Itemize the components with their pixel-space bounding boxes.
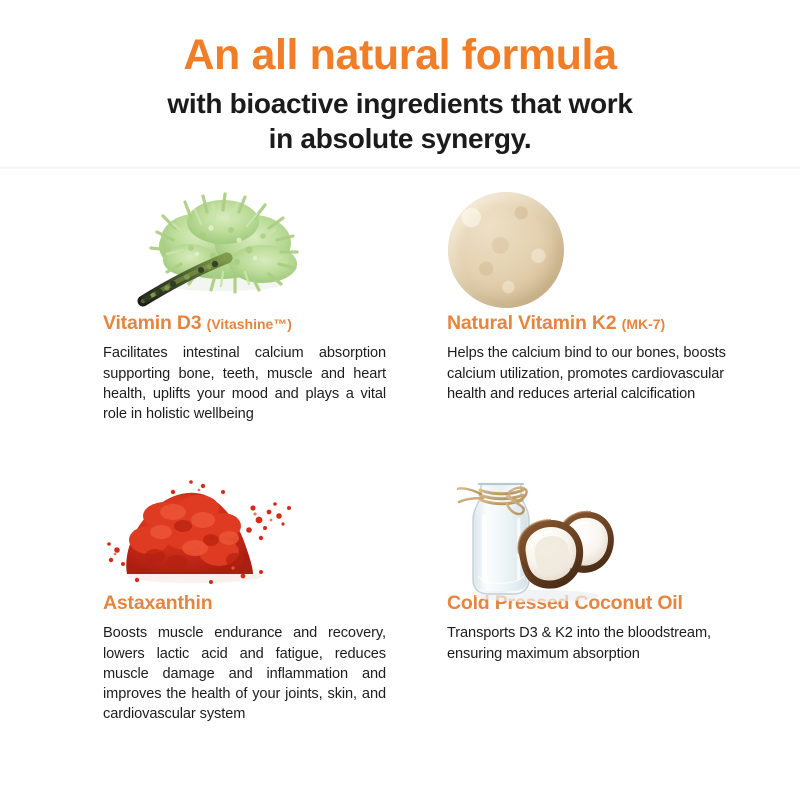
- ingredient-card-coconut-oil: Cold Pressed Coconut Oil Transports D3 &…: [447, 468, 747, 664]
- subtitle-line-2: in absolute synergy.: [167, 122, 632, 156]
- ingredient-image-wrapper: [103, 468, 403, 593]
- ingredient-name: Natural Vitamin K2: [447, 312, 616, 334]
- ingredient-description: Facilitates intestinal calcium absorptio…: [103, 343, 386, 424]
- page-subtitle: with bioactive ingredients that work in …: [167, 87, 632, 155]
- page-title: An all natural formula: [183, 32, 616, 78]
- header-section: An all natural formula with bioactive in…: [0, 0, 800, 168]
- header-divider: [0, 167, 800, 169]
- beige-powder-disc-icon: [448, 192, 564, 308]
- ingredient-heading: Astaxanthin: [103, 593, 403, 614]
- ingredient-description: Transports D3 & K2 into the bloodstream,…: [447, 623, 739, 663]
- red-powder-mound-icon: [103, 468, 303, 593]
- coconut-oil-carafe-icon: [457, 468, 622, 608]
- ingredient-heading: Vitamin D3 (Vitashine™): [103, 313, 403, 334]
- lichen-sprig-icon: [103, 188, 333, 308]
- ingredients-grid: Vitamin D3 (Vitashine™) Facilitates inte…: [0, 170, 800, 800]
- subtitle-line-1: with bioactive ingredients that work: [167, 87, 632, 121]
- ingredient-qualifier: (MK-7): [622, 316, 666, 332]
- ingredient-heading: Natural Vitamin K2 (MK-7): [447, 313, 747, 334]
- ingredient-card-vitamin-k2: Natural Vitamin K2 (MK-7) Helps the calc…: [447, 188, 747, 404]
- ingredient-qualifier: (Vitashine™): [207, 316, 292, 332]
- ingredient-description: Boosts muscle endurance and recovery, lo…: [103, 623, 386, 724]
- ingredient-image-wrapper: [447, 468, 747, 593]
- ingredient-name: Astaxanthin: [103, 592, 212, 614]
- ingredient-card-astaxanthin: Astaxanthin Boosts muscle endurance and …: [103, 468, 403, 724]
- ingredient-card-vitamin-d3: Vitamin D3 (Vitashine™) Facilitates inte…: [103, 188, 403, 424]
- ingredient-image-wrapper: [103, 188, 403, 313]
- ingredients-infographic: An all natural formula with bioactive in…: [0, 0, 800, 800]
- ingredient-image-wrapper: [447, 188, 747, 313]
- ingredient-description: Helps the calcium bind to our bones, boo…: [447, 343, 739, 403]
- ingredient-name: Vitamin D3: [103, 312, 201, 334]
